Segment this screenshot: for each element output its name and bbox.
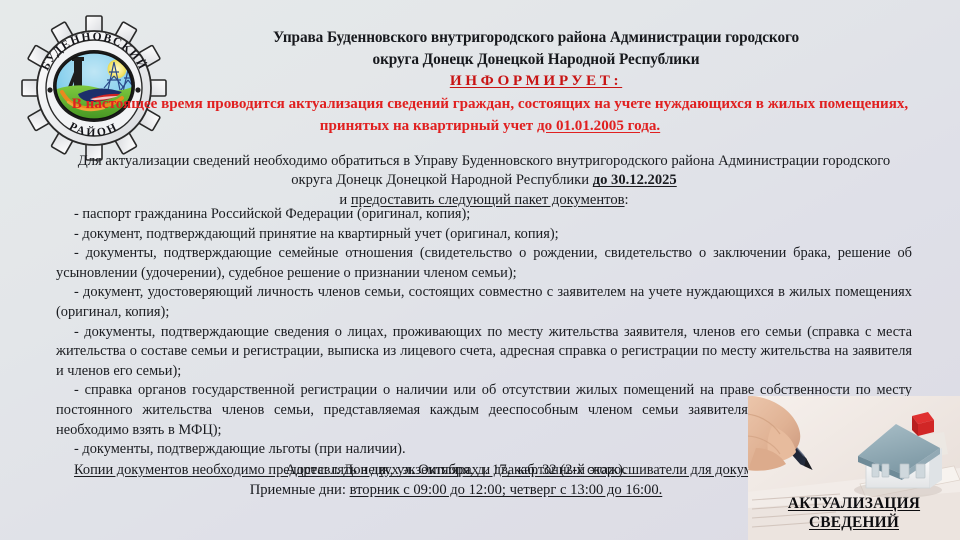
reception-days: Приемные дни: вторник с 09:00 до 12:00; … bbox=[56, 480, 856, 500]
photo-caption-line-1: АКТУАЛИЗАЦИЯ bbox=[788, 494, 920, 513]
reception-days-label: Приемные дни: bbox=[250, 482, 350, 498]
document-item: - документы, подтверждающие сведения о л… bbox=[56, 323, 912, 382]
document-item: - документ, удостоверяющий личность член… bbox=[56, 283, 912, 322]
header-line-1: Управа Буденновского внутригородского ра… bbox=[186, 27, 886, 49]
office-address: Адрес: г. Донецк, ул. Октября, д. 17, ка… bbox=[56, 460, 856, 480]
information-poster: БУДЕННОВСКИЙ РАЙОН bbox=[0, 0, 960, 540]
district-emblem: БУДЕННОВСКИЙ РАЙОН bbox=[18, 14, 170, 162]
informs-label: ИНФОРМИРУЕТ: bbox=[186, 72, 886, 90]
poster-header: Управа Буденновского внутригородского ра… bbox=[186, 27, 886, 90]
intro-deadline: до 30.12.2025 bbox=[593, 172, 677, 188]
red-notice-deadline: до 01.01.2005 года. bbox=[537, 118, 660, 134]
intro-text-part1: Для актуализации сведений необходимо обр… bbox=[78, 153, 890, 188]
red-notice-text: В настоящее время проводится актуализаци… bbox=[72, 96, 908, 134]
reception-days-hours: вторник с 09:00 до 12:00; четверг с 13:0… bbox=[350, 482, 663, 498]
contact-footer: Адрес: г. Донецк, ул. Октября, д. 17, ка… bbox=[56, 460, 856, 500]
document-item: - паспорт гражданина Российской Федераци… bbox=[56, 205, 912, 225]
header-line-2: округа Донецк Донецкой Народной Республи… bbox=[186, 49, 886, 71]
intro-paragraph: Для актуализации сведений необходимо обр… bbox=[56, 152, 912, 210]
district-emblem-icon: БУДЕННОВСКИЙ РАЙОН bbox=[18, 14, 170, 162]
photo-caption-line-2: СВЕДЕНИЙ bbox=[809, 513, 899, 532]
red-notice: В настоящее время проводится актуализаци… bbox=[60, 94, 920, 137]
actualization-photo: АКТУАЛИЗАЦИЯ СВЕДЕНИЙ bbox=[748, 396, 960, 540]
document-item: - документы, подтверждающие семейные отн… bbox=[56, 244, 912, 283]
document-item: - документ, подтверждающий принятие на к… bbox=[56, 225, 912, 245]
photo-caption: АКТУАЛИЗАЦИЯ СВЕДЕНИЙ bbox=[748, 494, 960, 532]
